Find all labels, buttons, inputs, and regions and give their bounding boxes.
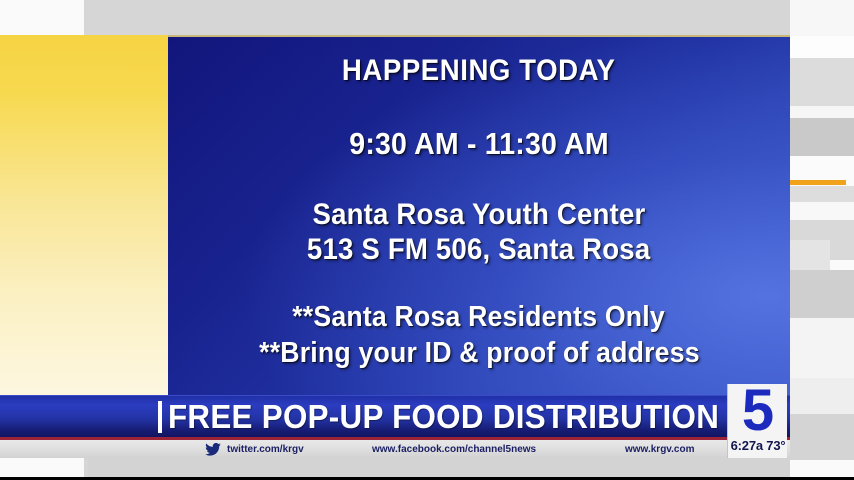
- background-band: [790, 58, 854, 106]
- social-twitter-label: twitter.com/krgv: [227, 444, 304, 455]
- lower-third-banner: FREE POP-UP FOOD DISTRIBUTION: [0, 395, 790, 438]
- background-band: [790, 36, 854, 58]
- background-footer-block: [88, 456, 790, 478]
- background-band: [790, 106, 854, 118]
- social-facebook-label: www.facebook.com/channel5news: [372, 444, 536, 455]
- background-band: [790, 118, 854, 156]
- background-band: [790, 202, 854, 220]
- info-graphic-panel: HAPPENING TODAY 9:30 AM - 11:30 AM Santa…: [168, 35, 790, 397]
- broadcast-screenshot: HAPPENING TODAY 9:30 AM - 11:30 AM Santa…: [0, 0, 854, 480]
- social-website-label: www.krgv.com: [625, 444, 694, 455]
- banner-accent-tick: [158, 401, 162, 433]
- twitter-icon: [205, 443, 221, 456]
- slide-venue-name: Santa Rosa Youth Center: [313, 197, 646, 232]
- time-temperature-display: 6:27a 73°: [728, 438, 788, 453]
- slide-note-bring-id: **Bring your ID & proof of address: [259, 335, 700, 371]
- background-band: [790, 186, 854, 202]
- background-band: [790, 378, 854, 414]
- background-band: [790, 156, 854, 180]
- background-band: [790, 0, 854, 36]
- lower-third-headline: FREE POP-UP FOOD DISTRIBUTION: [168, 396, 719, 438]
- slide-address: 513 S FM 506, Santa Rosa: [307, 232, 650, 267]
- background-band: [790, 240, 830, 270]
- station-logo-bug: 5 6:27a 73°: [727, 384, 787, 458]
- background-band: [790, 318, 854, 378]
- background-band: [790, 414, 854, 460]
- graphic-yellow-panel: [0, 35, 168, 395]
- channel-5-logo: 5: [728, 382, 788, 440]
- background-orange-divider: [790, 180, 846, 185]
- social-twitter-item[interactable]: twitter.com/krgv: [205, 440, 304, 458]
- social-facebook-item[interactable]: www.facebook.com/channel5news: [372, 440, 536, 458]
- social-media-bar: twitter.com/krgv www.facebook.com/channe…: [0, 440, 790, 458]
- slide-note-residents: **Santa Rosa Residents Only: [293, 299, 666, 335]
- info-graphic-content: HAPPENING TODAY 9:30 AM - 11:30 AM Santa…: [168, 37, 790, 397]
- social-website-item[interactable]: www.krgv.com: [625, 440, 694, 458]
- slide-time-range: 9:30 AM - 11:30 AM: [349, 127, 609, 161]
- slide-headline: HAPPENING TODAY: [342, 54, 616, 88]
- background-band: [790, 270, 854, 318]
